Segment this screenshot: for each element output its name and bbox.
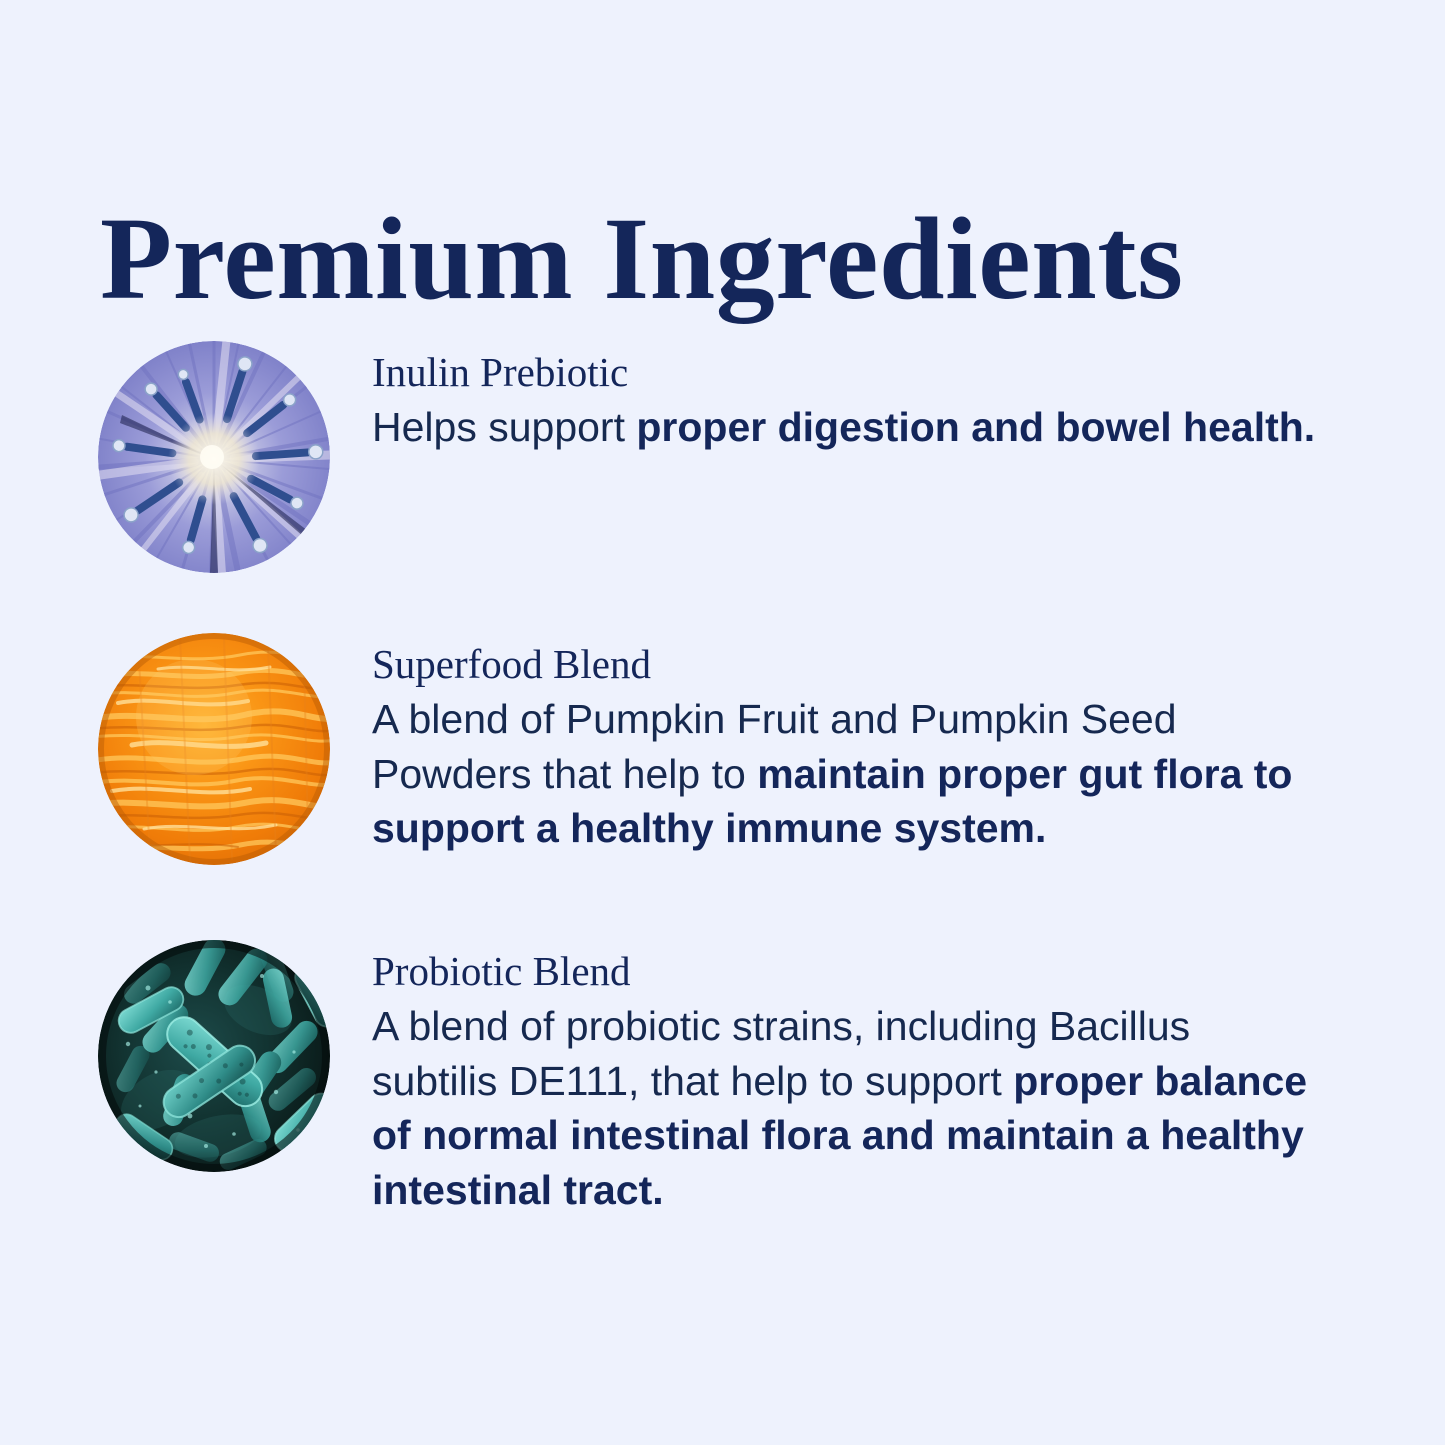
description-emphasis-text: proper digestion and bowel health.: [636, 404, 1315, 450]
ingredient-text-block: Superfood Blend A blend of Pumpkin Fruit…: [330, 633, 1388, 856]
ingredient-text-block: Inulin Prebiotic Helps support proper di…: [330, 341, 1388, 455]
description-lead-text: Helps support: [372, 404, 636, 450]
ingredient-text-block: Probiotic Blend A blend of probiotic str…: [330, 940, 1388, 1217]
ingredient-description: Helps support proper digestion and bowel…: [372, 400, 1332, 455]
ingredient-item-probiotic-blend: Probiotic Blend A blend of probiotic str…: [98, 940, 1388, 1217]
probiotic-bacteria-image: [98, 940, 330, 1172]
ingredient-name: Probiotic Blend: [372, 948, 1388, 995]
premium-ingredients-page: Premium Ingredients: [0, 0, 1445, 1445]
ingredient-item-superfood-blend: Superfood Blend A blend of Pumpkin Fruit…: [98, 633, 1388, 865]
ingredient-item-inulin-prebiotic: Inulin Prebiotic Helps support proper di…: [98, 341, 1388, 573]
ingredient-name: Superfood Blend: [372, 641, 1388, 688]
ingredient-description: A blend of Pumpkin Fruit and Pumpkin See…: [372, 692, 1347, 856]
pumpkin-flesh-image: [98, 633, 330, 865]
ingredient-description: A blend of probiotic strains, including …: [372, 999, 1322, 1217]
page-title: Premium Ingredients: [100, 197, 1350, 321]
chicory-flower-image: [98, 341, 330, 573]
ingredient-name: Inulin Prebiotic: [372, 349, 1388, 396]
